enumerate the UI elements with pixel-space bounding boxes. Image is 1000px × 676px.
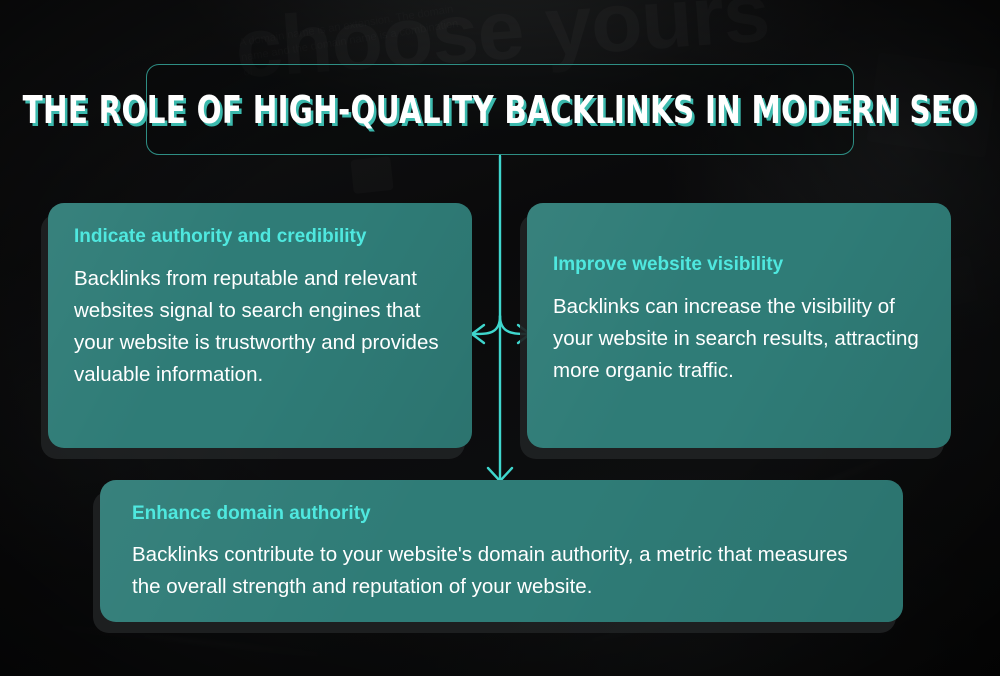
title-banner: THE ROLE OF HIGH-QUALITY BACKLINKS IN MO…: [146, 64, 854, 155]
card-heading: Enhance domain authority: [132, 504, 871, 525]
card-heading: Indicate authority and credibility: [74, 227, 446, 248]
card-body: Backlinks can increase the visibility of…: [553, 291, 925, 387]
card-heading: Improve website visibility: [553, 255, 925, 276]
card-improve-visibility[interactable]: Improve website visibility Backlinks can…: [527, 203, 951, 448]
card-indicate-authority[interactable]: Indicate authority and credibility Backl…: [48, 203, 472, 448]
page-title: THE ROLE OF HIGH-QUALITY BACKLINKS IN MO…: [23, 91, 977, 129]
card-body: Backlinks contribute to your website's d…: [132, 539, 871, 603]
card-body: Backlinks from reputable and relevant we…: [74, 263, 446, 391]
infographic-canvas: choose yours A domain name is an extensi…: [0, 0, 1000, 676]
card-enhance-domain-authority[interactable]: Enhance domain authority Backlinks contr…: [100, 480, 903, 622]
